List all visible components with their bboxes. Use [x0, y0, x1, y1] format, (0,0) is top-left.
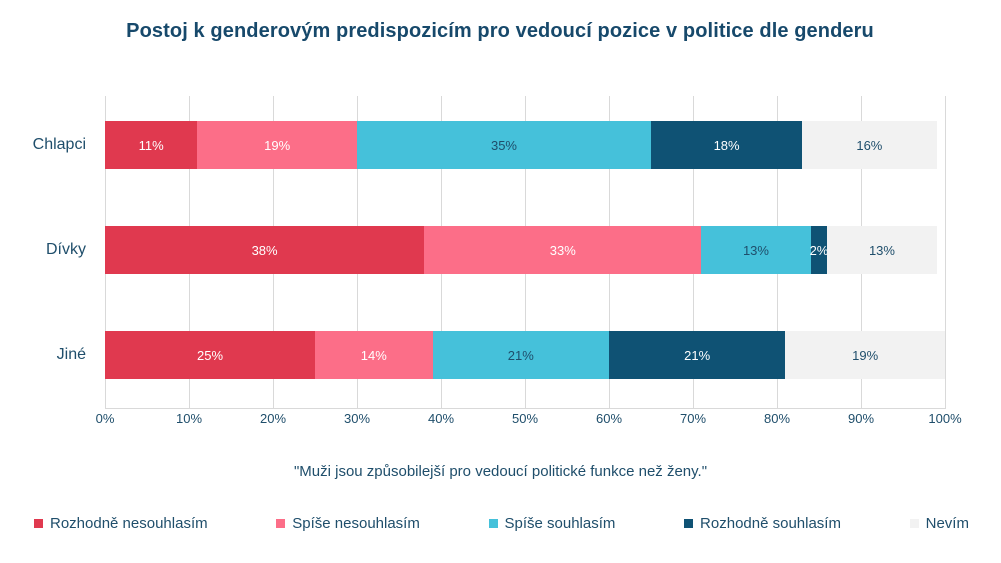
bar-segment[interactable]: 14%: [315, 331, 433, 379]
chart-legend: Rozhodně nesouhlasímSpíše nesouhlasímSpí…: [34, 510, 969, 536]
legend-label: Spíše nesouhlasím: [292, 515, 420, 532]
bar-row: 11%19%35%18%16%: [105, 121, 945, 169]
x-axis-tick-label: 100%: [928, 411, 961, 426]
bar-segment[interactable]: 21%: [609, 331, 785, 379]
bar-segment-value-label: 33%: [550, 243, 576, 258]
legend-item[interactable]: Nevím: [910, 515, 969, 532]
bar-segment-value-label: 2%: [810, 243, 829, 258]
bar-row: 38%33%13%2%13%: [105, 226, 945, 274]
bar-row: 25%14%21%21%19%: [105, 331, 945, 379]
x-axis-tick-label: 40%: [428, 411, 454, 426]
bar-segment[interactable]: 2%: [811, 226, 828, 274]
bar-segment-value-label: 11%: [139, 138, 164, 153]
x-axis-tick-label: 80%: [764, 411, 790, 426]
x-axis-tick-label: 20%: [260, 411, 286, 426]
bar-segment-value-label: 25%: [197, 348, 223, 363]
bar-segment[interactable]: 18%: [651, 121, 802, 169]
bar-segment[interactable]: 13%: [701, 226, 810, 274]
gridline: [945, 96, 946, 408]
legend-label: Rozhodně souhlasím: [700, 515, 841, 532]
y-axis-category-labels: ChlapciDívkyJiné: [0, 96, 96, 408]
x-axis-line: [105, 408, 946, 409]
y-axis-category-label: Chlapci: [33, 135, 86, 155]
bar-segment-value-label: 18%: [714, 138, 740, 153]
bar-segment-value-label: 35%: [491, 138, 517, 153]
legend-label: Rozhodně nesouhlasím: [50, 515, 208, 532]
chart-caption: "Muži jsou způsobilejší pro vedoucí poli…: [0, 463, 1001, 480]
legend-item[interactable]: Rozhodně souhlasím: [684, 515, 841, 532]
bar-segment-value-label: 13%: [869, 243, 895, 258]
bar-segment[interactable]: 25%: [105, 331, 315, 379]
legend-item[interactable]: Rozhodně nesouhlasím: [34, 515, 208, 532]
bar-segment[interactable]: 11%: [105, 121, 197, 169]
bar-segment-value-label: 38%: [252, 243, 278, 258]
legend-item[interactable]: Spíše nesouhlasím: [276, 515, 420, 532]
bar-segment-value-label: 16%: [856, 138, 882, 153]
legend-swatch-icon: [910, 519, 919, 528]
x-axis-tick-label: 70%: [680, 411, 706, 426]
bar-segment-value-label: 19%: [264, 138, 290, 153]
x-axis-tick-label: 60%: [596, 411, 622, 426]
chart-title: Postoj k genderovým predispozicím pro ve…: [100, 18, 900, 45]
bar-segment[interactable]: 19%: [785, 331, 945, 379]
x-axis-tick-label: 90%: [848, 411, 874, 426]
y-axis-category-label: Jiné: [57, 345, 86, 365]
bar-segment-value-label: 19%: [852, 348, 878, 363]
bar-segment[interactable]: 38%: [105, 226, 424, 274]
bar-segment[interactable]: 33%: [424, 226, 701, 274]
legend-swatch-icon: [34, 519, 43, 528]
plot-area: 11%19%35%18%16%38%33%13%2%13%25%14%21%21…: [105, 96, 945, 408]
bar-segment[interactable]: 19%: [197, 121, 357, 169]
x-axis-tick-label: 50%: [512, 411, 538, 426]
bar-segment[interactable]: 13%: [827, 226, 936, 274]
x-axis-tick-label: 0%: [96, 411, 115, 426]
x-axis-tick-label: 30%: [344, 411, 370, 426]
legend-label: Spíše souhlasím: [505, 515, 616, 532]
x-axis-tick-labels: 0%10%20%30%40%50%60%70%80%90%100%: [105, 411, 945, 431]
legend-swatch-icon: [684, 519, 693, 528]
bar-segment-value-label: 21%: [508, 348, 534, 363]
bar-segment[interactable]: 21%: [433, 331, 609, 379]
legend-swatch-icon: [489, 519, 498, 528]
bar-segment[interactable]: 35%: [357, 121, 651, 169]
bar-segment-value-label: 13%: [743, 243, 769, 258]
legend-item[interactable]: Spíše souhlasím: [489, 515, 616, 532]
legend-label: Nevím: [926, 515, 969, 532]
bar-segment[interactable]: 16%: [802, 121, 936, 169]
x-axis-tick-label: 10%: [176, 411, 202, 426]
bar-segment-value-label: 14%: [361, 348, 387, 363]
y-axis-category-label: Dívky: [46, 240, 86, 260]
legend-swatch-icon: [276, 519, 285, 528]
bar-segment-value-label: 21%: [684, 348, 710, 363]
